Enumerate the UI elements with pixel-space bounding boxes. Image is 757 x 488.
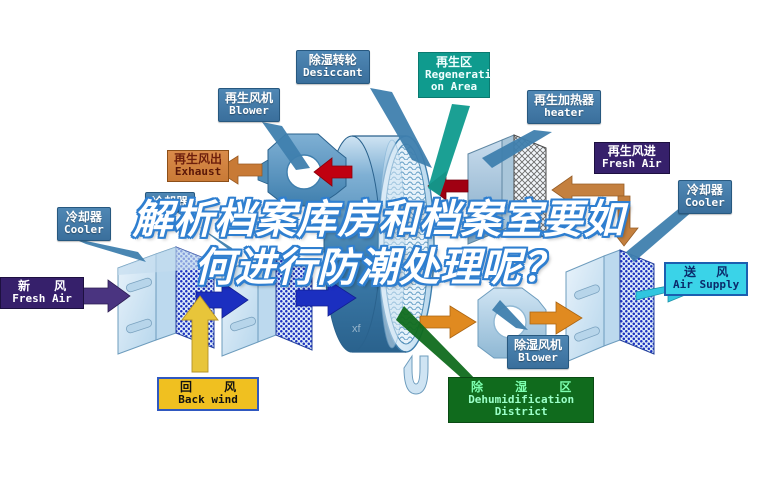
label-fresh-air-en: Fresh Air <box>8 293 76 305</box>
label-dehumidification-district-cn: 除 湿 区 <box>457 381 585 394</box>
label-cooler-left-lower-en: Cooler <box>64 224 104 236</box>
label-fresh-air-cn: 新 风 <box>8 280 76 293</box>
label-regen-fresh-air-cn: 再生风进 <box>602 145 662 158</box>
label-dehumidification-blower-en: Blower <box>514 352 562 364</box>
label-desiccant-wheel-cn: 除湿转轮 <box>303 54 363 67</box>
label-air-supply[interactable]: 送 风 Air Supply <box>664 262 748 296</box>
label-regeneration-heater-cn: 再生加热器 <box>534 94 594 107</box>
label-cooler-left-lower[interactable]: 冷却器 Cooler <box>57 207 111 241</box>
label-regeneration-area-en2: on Area <box>425 81 483 93</box>
label-exhaust[interactable]: 再生风出 Exhaust <box>167 150 229 182</box>
label-dehumidification-blower-cn: 除湿风机 <box>514 339 562 352</box>
rotor-drain-duct <box>404 356 428 394</box>
diagram-canvas: xf 除湿转轮 Desiccant 再生风机 Blower 再生区 Regene… <box>0 0 757 488</box>
label-regeneration-area-cn: 再生区 <box>425 56 483 69</box>
label-dehumidification-blower[interactable]: 除湿风机 Blower <box>507 335 569 369</box>
label-cooler-right-cn: 冷却器 <box>685 184 725 197</box>
label-desiccant-wheel[interactable]: 除湿转轮 Desiccant <box>296 50 370 84</box>
dehumidifier-schematic: xf <box>0 0 757 488</box>
label-regeneration-blower-en: Blower <box>225 105 273 117</box>
label-back-wind-en: Back wind <box>166 394 250 406</box>
label-cooler-left-lower-cn: 冷却器 <box>64 211 104 224</box>
heater-feed-arrow <box>552 176 638 246</box>
label-regeneration-area[interactable]: 再生区 Regenerati on Area <box>418 52 490 98</box>
label-back-wind-cn: 回 风 <box>166 381 250 394</box>
watermark-text: xf <box>352 323 362 335</box>
label-cooler-right-en: Cooler <box>685 197 725 209</box>
label-desiccant-wheel-en: Desiccant <box>303 67 363 79</box>
supply-cooler-coil <box>566 250 654 362</box>
label-air-supply-en: Air Supply <box>673 279 739 291</box>
label-cooler-left-upper-cn: 冷却器 <box>152 196 188 209</box>
label-exhaust-en: Exhaust <box>174 166 222 178</box>
label-regeneration-heater-en: heater <box>534 107 594 119</box>
label-cooler-right[interactable]: 冷却器 Cooler <box>678 180 732 214</box>
label-regeneration-blower[interactable]: 再生风机 Blower <box>218 88 280 122</box>
label-regeneration-blower-cn: 再生风机 <box>225 92 273 105</box>
label-back-wind[interactable]: 回 风 Back wind <box>157 377 259 411</box>
label-dehumidification-district[interactable]: 除 湿 区 Dehumidification District <box>448 377 594 423</box>
label-dehumidification-district-en2: District <box>457 406 585 418</box>
label-regen-fresh-air-en: Fresh Air <box>602 158 662 170</box>
label-fresh-air[interactable]: 新 风 Fresh Air <box>0 277 84 309</box>
label-cooler-left-upper[interactable]: 冷却器 <box>145 192 195 212</box>
label-exhaust-cn: 再生风出 <box>174 153 222 166</box>
label-regen-fresh-air[interactable]: 再生风进 Fresh Air <box>594 142 670 174</box>
label-regeneration-heater[interactable]: 再生加热器 heater <box>527 90 601 124</box>
label-air-supply-cn: 送 风 <box>673 266 739 279</box>
